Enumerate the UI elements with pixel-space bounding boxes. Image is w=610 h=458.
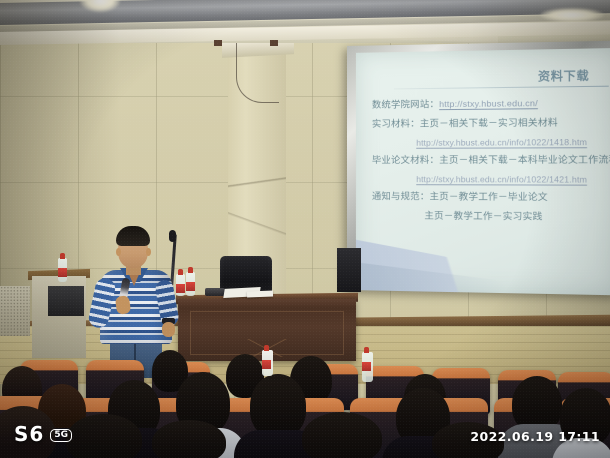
- audience-head: [250, 374, 306, 438]
- audience-head: [302, 412, 382, 458]
- water-bottle: [262, 350, 273, 376]
- bottle-label: [186, 282, 195, 291]
- presenter-ear: [116, 248, 121, 256]
- chair-armrest-right: [270, 40, 278, 46]
- slide-line-4: 毕业论文材料：主页－相关下载－本科毕业论文工作流程: [372, 155, 610, 165]
- chair-armrest-left: [214, 40, 222, 46]
- bottle-cap: [188, 267, 193, 273]
- bottle-label: [362, 362, 371, 371]
- presenter-ear: [146, 248, 151, 256]
- lecture-hall-photo: 资料下载 数统学院网站：http://stxy.hbust.edu.cn/ 实习…: [0, 0, 610, 458]
- timestamp-watermark: 2022.06.19 17:11: [470, 429, 600, 444]
- bottle-cap: [60, 253, 65, 259]
- slide-line-1-label: 数统学院网站：: [372, 99, 439, 110]
- device-watermark-label: S6: [14, 422, 44, 446]
- slide-line-1: 数统学院网站：http://stxy.hbust.edu.cn/: [372, 98, 610, 110]
- speaker-grill: [0, 286, 30, 336]
- slide-title: 资料下载: [538, 67, 589, 84]
- presenter-hand-holding-mic: [115, 295, 131, 315]
- water-bottle: [58, 258, 67, 282]
- hanging-cable: [236, 42, 279, 103]
- device-watermark-badge: 5G: [50, 429, 72, 442]
- water-bottle: [186, 272, 195, 296]
- slide-line-1-link: http://stxy.hbust.edu.cn/: [439, 98, 538, 109]
- bottle-label: [262, 360, 271, 369]
- water-bottle: [362, 352, 373, 382]
- projection-screen-surface: 资料下载 数统学院网站：http://stxy.hbust.edu.cn/ 实习…: [356, 48, 610, 295]
- desk-device: [205, 288, 225, 296]
- bottle-cap: [264, 345, 269, 351]
- slide-title-underline: [394, 86, 609, 90]
- lectern-dark-front: [48, 286, 84, 316]
- device-watermark: S65G: [14, 422, 72, 446]
- bottle-cap: [364, 347, 369, 353]
- papers-on-desk: [247, 291, 273, 298]
- audience-head: [66, 414, 142, 458]
- projection-screen-frame: 资料下载 数统学院网站：http://stxy.hbust.edu.cn/ 实习…: [347, 41, 610, 296]
- slide-line-7: 主页－教学工作－实习实践: [372, 211, 610, 222]
- presenter-hair: [116, 226, 150, 246]
- slide-line-3-url: http://stxy.hbust.edu.cn/info/1022/1418.…: [372, 137, 610, 147]
- slide-line-5-url: http://stxy.hbust.edu.cn/info/1022/1421.…: [372, 175, 610, 184]
- bottle-label: [58, 268, 67, 277]
- presenter-hand-on-hip: [162, 322, 175, 337]
- dark-cabinet: [337, 248, 361, 292]
- slide-body: 数统学院网站：http://stxy.hbust.edu.cn/ 实习材料：主页…: [372, 98, 610, 232]
- loudspeaker-box: [0, 286, 30, 336]
- slide-line-2: 实习材料：主页－相关下载－实习相关材料: [372, 118, 610, 129]
- audience-head: [152, 420, 226, 458]
- slide-line-6: 通知与规范：主页－教学工作－毕业论文: [372, 192, 610, 203]
